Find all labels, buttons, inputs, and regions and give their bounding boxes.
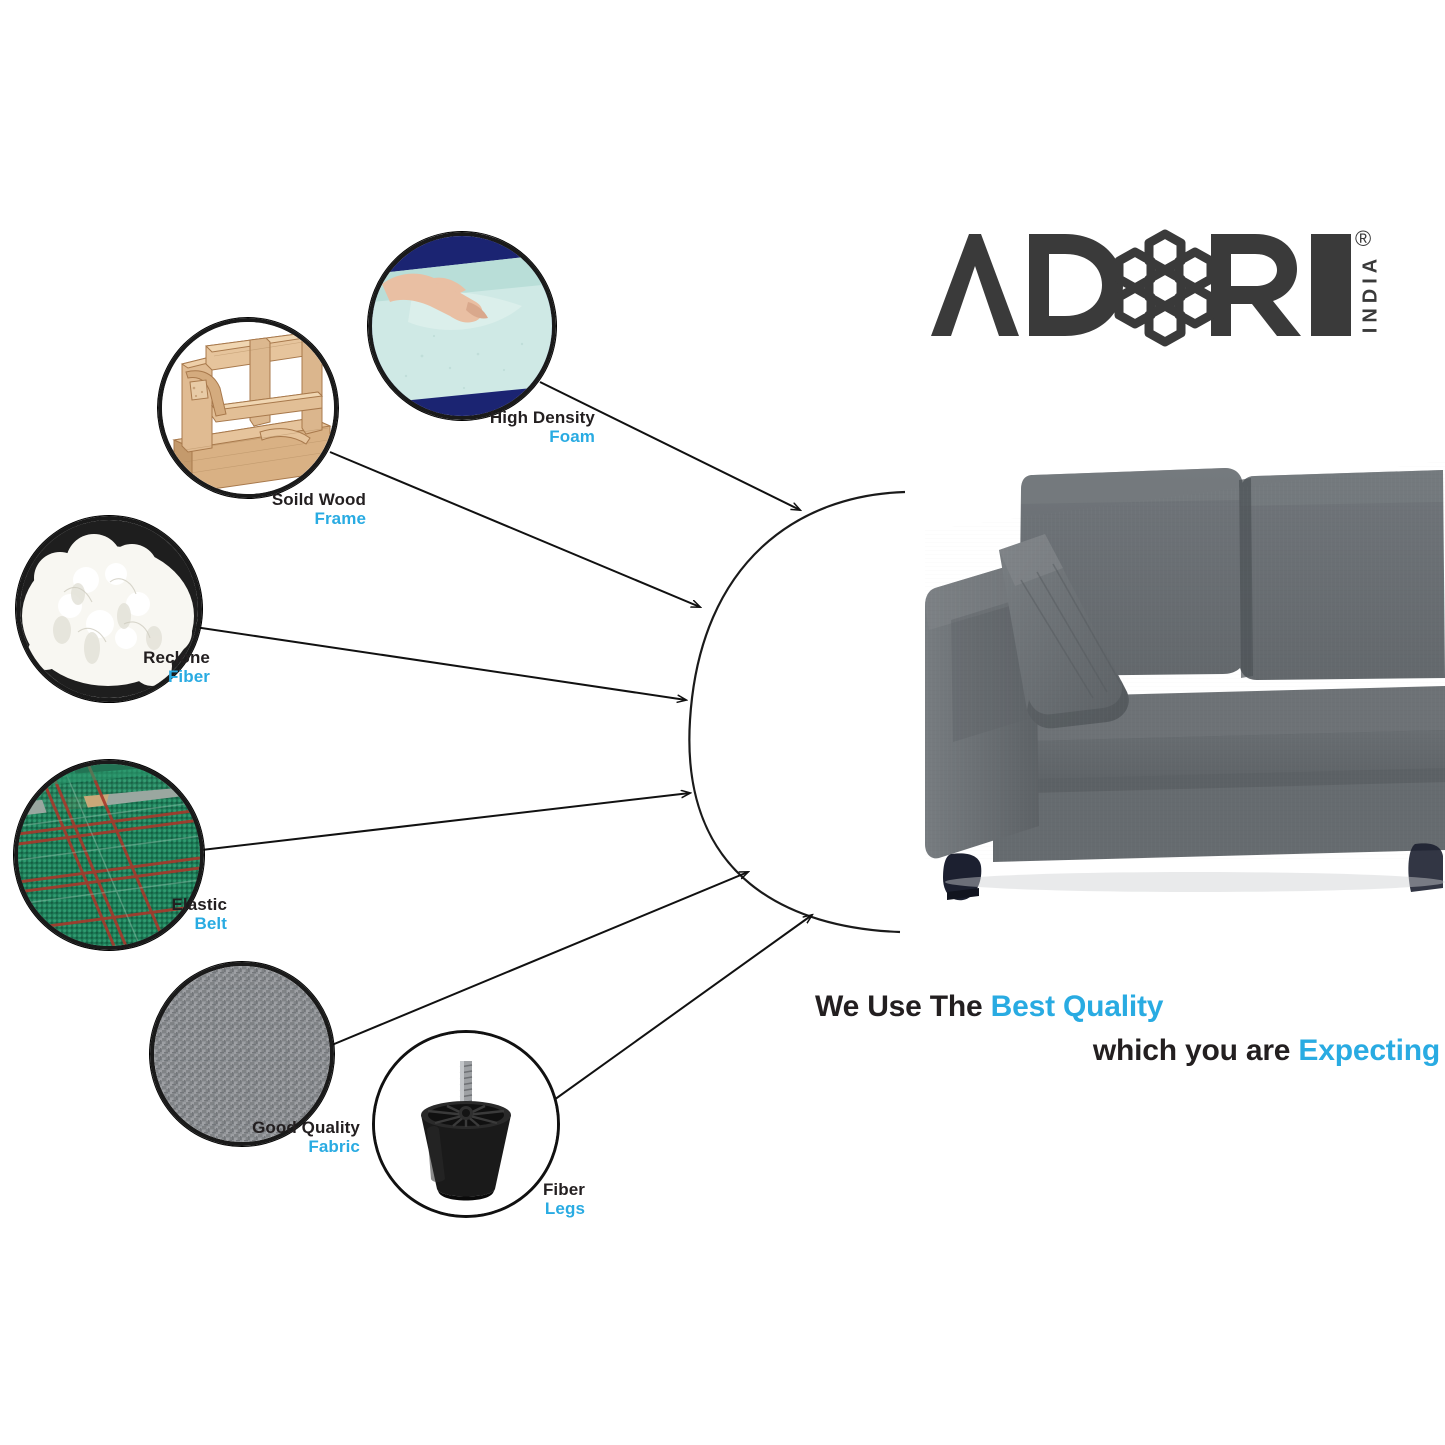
tagline-line-2-plain: which you are [1093,1034,1299,1067]
brand-logo [925,228,1385,358]
infographic-canvas: High Density Foam [0,0,1445,1445]
adorn-wordmark [925,228,1355,348]
tagline-line-1-highlight: Best Quality [991,990,1164,1023]
logo-india-text: INDIA [1360,241,1383,347]
sofa-product-image [895,430,1445,930]
tagline-line-1-plain: We Use The [815,990,991,1023]
good-quality-fabric-label: Good Quality Fabric [120,1118,360,1156]
elastic-belt-label: Elastic Belt [14,895,227,933]
reclone-fiber-label: Reclone Fiber [10,648,210,686]
tagline-line-2-highlight: Expecting [1298,1034,1440,1067]
tagline: We Use The Best Quality which you are Ex… [760,985,1440,1072]
fiber-legs-label: Fiber Legs [430,1180,585,1218]
tagline-line-2: which you are Expecting [760,1029,1440,1073]
registered-trademark-icon: ® [1355,226,1371,252]
logo-india-text-wrap: INDIA [1341,236,1401,356]
high-density-foam-label: High Density Foam [350,408,595,446]
solid-wood-frame-image [158,318,338,498]
tagline-line-1: We Use The Best Quality [760,985,1440,1029]
solid-wood-frame-label: Soild Wood Frame [130,490,366,528]
high-density-foam-image [368,232,556,420]
